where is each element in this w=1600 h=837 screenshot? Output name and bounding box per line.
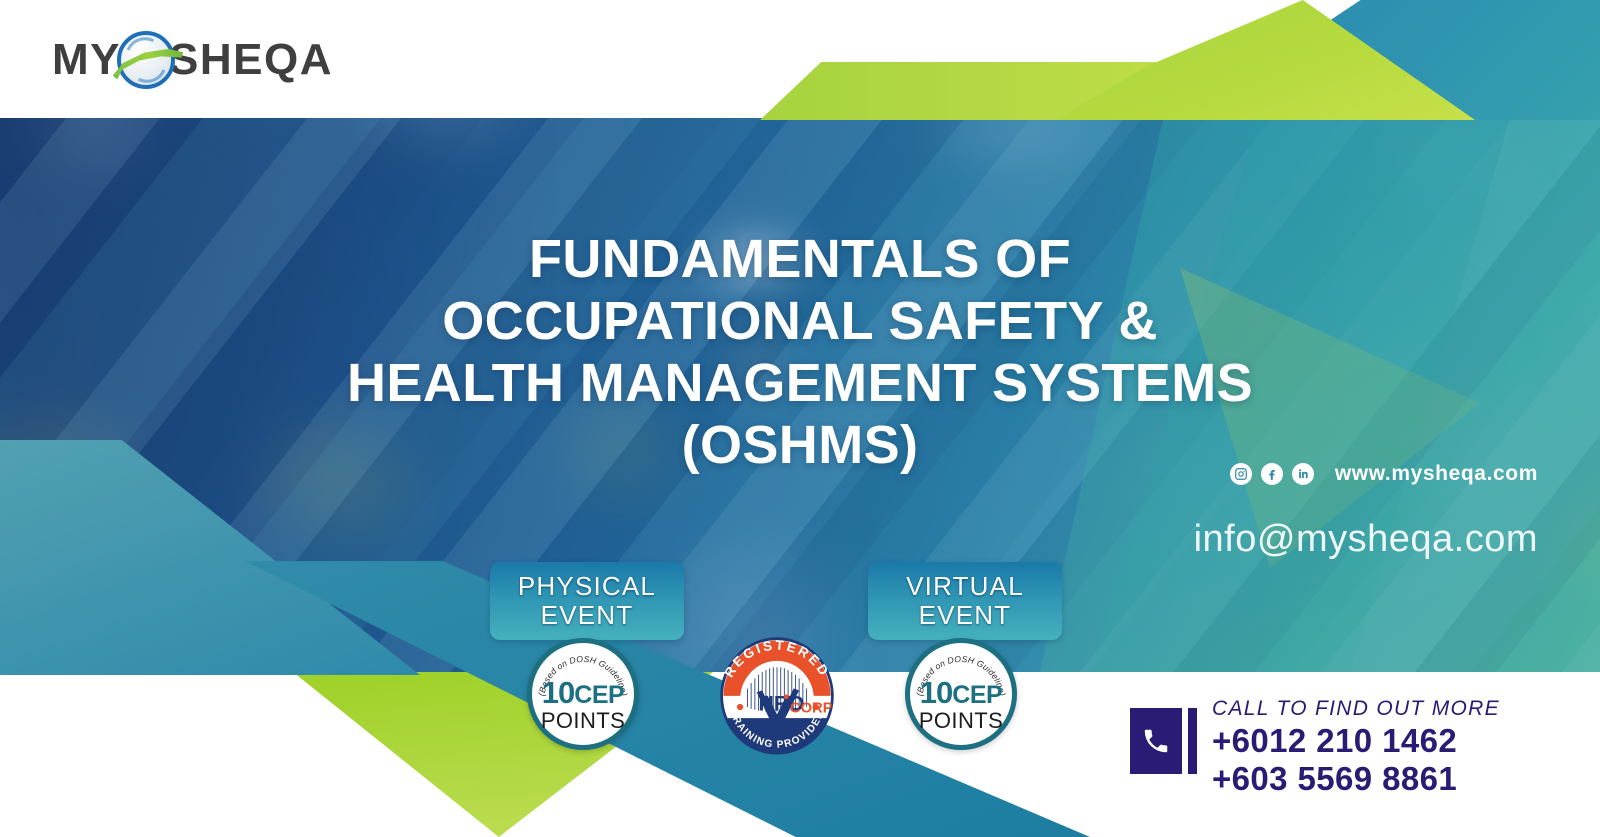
logo-text-sheqa: SHEQA xyxy=(169,36,333,84)
globe-swoosh-icon xyxy=(117,31,175,89)
page-title: FUNDAMENTALS OF OCCUPATIONAL SAFETY & HE… xyxy=(0,228,1600,476)
cep-points-badge-right: (Based on DOSH Guideline) 10CEP POINTS xyxy=(905,638,1017,750)
phone-number-1[interactable]: +6012 210 1462 xyxy=(1212,722,1500,760)
cep-points-label-left: POINTS xyxy=(532,710,634,732)
pill-virtual-event[interactable]: VIRTUAL EVENT xyxy=(868,562,1062,640)
pill-virtual-line2: EVENT xyxy=(919,600,1012,630)
hrdcorp-registered-training-provider-badge: HRD CORP REGISTERED TRAINING PROVIDER xyxy=(703,635,851,755)
facebook-icon[interactable] xyxy=(1261,463,1283,485)
phone-handset-icon[interactable] xyxy=(1130,708,1196,774)
website-link[interactable]: www.mysheqa.com xyxy=(1335,462,1538,486)
cep-number-left: 10 xyxy=(542,675,574,710)
pill-physical-line2: EVENT xyxy=(541,600,634,630)
social-links: www.mysheqa.com xyxy=(1230,462,1538,486)
cep-unit-left: CEP xyxy=(574,681,624,709)
cep-points-badge-left: (Based on DOSH Guideline) 10CEP POINTS xyxy=(527,638,639,750)
pill-physical-event[interactable]: PHYSICAL EVENT xyxy=(490,562,684,640)
call-to-action-phone-block: CALL TO FIND OUT MORE +6012 210 1462 +60… xyxy=(1130,690,1500,798)
title-line-3: HEALTH MANAGEMENT SYSTEMS xyxy=(120,352,1480,414)
instagram-icon[interactable] xyxy=(1230,463,1252,485)
cep-number-right: 10 xyxy=(920,675,952,710)
hrd-center-sub: CORP xyxy=(790,701,833,717)
logo-text-my: MY xyxy=(52,36,121,84)
cep-points-label-right: POINTS xyxy=(910,710,1012,732)
linkedin-icon[interactable] xyxy=(1292,463,1314,485)
title-line-2: OCCUPATIONAL SAFETY & xyxy=(120,290,1480,352)
phone-number-2[interactable]: +603 5569 8861 xyxy=(1212,760,1500,798)
promo-poster: MY SHEQA FUNDAMENTALS OF OCCUPATIONAL SA… xyxy=(0,0,1600,837)
call-label: CALL TO FIND OUT MORE xyxy=(1212,696,1500,722)
pill-virtual-line1: VIRTUAL xyxy=(906,571,1024,601)
title-line-1: FUNDAMENTALS OF xyxy=(120,228,1480,290)
pill-physical-line1: PHYSICAL xyxy=(518,571,656,601)
mysheqa-logo[interactable]: MY SHEQA xyxy=(52,36,333,84)
cep-unit-right: CEP xyxy=(952,681,1002,709)
email-link[interactable]: info@mysheqa.com xyxy=(1194,518,1538,561)
